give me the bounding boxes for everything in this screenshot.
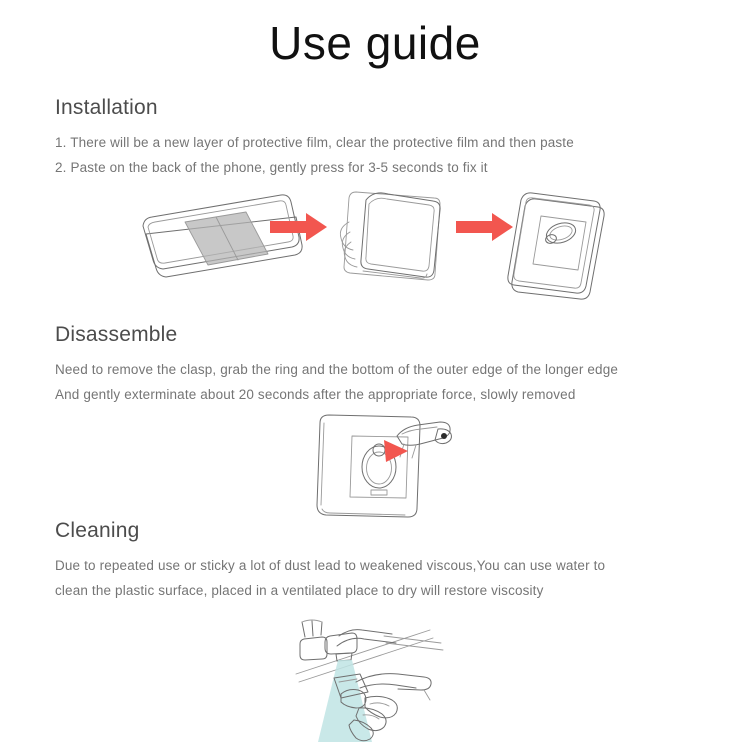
section-body-disassemble: Need to remove the clasp, grab the ring … [55, 357, 750, 407]
phone-with-ring-holder [508, 193, 604, 299]
section-heading-installation: Installation [55, 95, 750, 121]
disassemble-line-1: Need to remove the clasp, grab the ring … [55, 357, 750, 382]
peeling-protective-film [340, 192, 440, 280]
phone-with-film-patch [143, 195, 302, 277]
installation-line-1: 1. There will be a new layer of protecti… [55, 130, 750, 155]
section-heading-disassemble: Disassemble [55, 322, 750, 348]
section-installation: Installation 1. There will be a new laye… [0, 95, 750, 180]
use-guide-page: Use guide Installation 1. There will be … [0, 0, 750, 750]
phone-back-with-ring-holder [317, 415, 420, 517]
arrow-right-icon-2 [456, 213, 513, 241]
page-title: Use guide [0, 18, 750, 69]
running-water-stream [318, 660, 372, 742]
section-disassemble: Disassemble Need to remove the clasp, gr… [0, 322, 750, 407]
hand-pinching-edge [397, 422, 451, 458]
disassemble-line-2: And gently exterminate about 20 seconds … [55, 382, 750, 407]
cleaning-line-2: clean the plastic surface, placed in a v… [55, 578, 750, 603]
section-body-cleaning: Due to repeated use or sticky a lot of d… [55, 553, 750, 603]
section-heading-cleaning: Cleaning [55, 518, 750, 544]
section-cleaning: Cleaning Due to repeated use or sticky a… [0, 518, 750, 603]
cleaning-line-1: Due to repeated use or sticky a lot of d… [55, 553, 750, 578]
arrow-triangle-pull-icon [384, 440, 408, 462]
